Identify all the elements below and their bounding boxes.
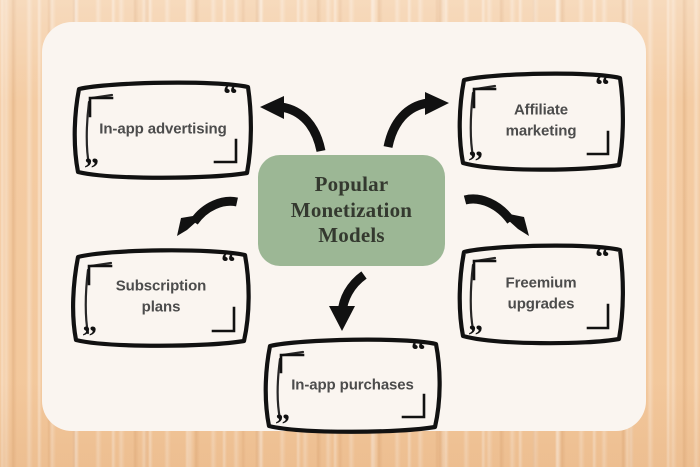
open-quote-icon: “ xyxy=(595,243,610,273)
card-label: Affiliate marketing xyxy=(470,100,611,143)
center-node-label: Popular Monetization Models xyxy=(291,172,412,249)
arrow-to-freemium-upgrades xyxy=(462,193,536,247)
open-quote-icon: “ xyxy=(411,336,426,366)
card-subscription-plans[interactable]: “ ” Subscription plans xyxy=(68,244,254,350)
arrow-to-subscription-plans xyxy=(171,196,241,248)
card-label: In-app purchases xyxy=(277,374,427,395)
card-affiliate-marketing[interactable]: “ ” Affiliate marketing xyxy=(455,68,627,174)
arrow-to-affiliate-marketing xyxy=(383,92,451,150)
close-quote-icon: ” xyxy=(468,321,483,351)
card-label: Subscription plans xyxy=(85,276,238,319)
card-label: In-app advertising xyxy=(87,118,240,139)
card-freemium-upgrades[interactable]: “ ” Freemium upgrades xyxy=(455,240,627,348)
open-quote-icon: “ xyxy=(221,248,236,278)
center-node-popular-monetization-models[interactable]: Popular Monetization Models xyxy=(258,155,445,266)
open-quote-icon: “ xyxy=(595,71,610,101)
close-quote-icon: ” xyxy=(84,154,99,184)
open-quote-icon: “ xyxy=(223,80,238,110)
close-quote-icon: ” xyxy=(468,147,483,177)
diagram-canvas: “ ” In-app advertising “ ” Affiliate mar… xyxy=(0,0,700,467)
close-quote-icon: ” xyxy=(82,322,97,352)
close-quote-icon: ” xyxy=(275,410,290,440)
arrow-to-in-app-purchases xyxy=(320,271,376,333)
arrow-to-in-app-advertising xyxy=(258,96,326,154)
card-label: Freemium upgrades xyxy=(470,273,611,316)
card-in-app-advertising[interactable]: “ ” In-app advertising xyxy=(70,76,256,182)
card-in-app-purchases[interactable]: “ ” In-app purchases xyxy=(261,334,444,436)
